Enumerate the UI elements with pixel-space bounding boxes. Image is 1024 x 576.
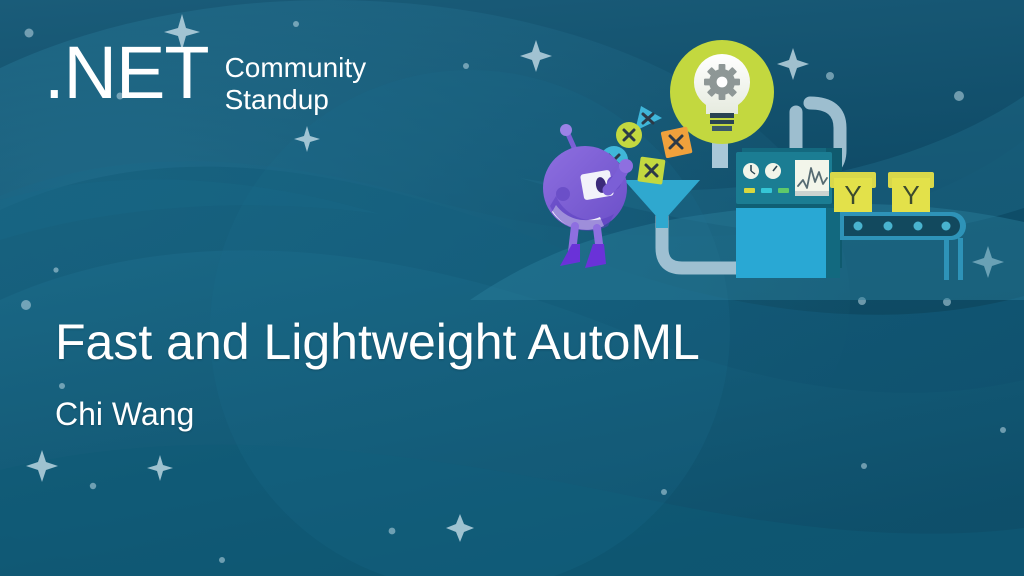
token-circle: [616, 122, 642, 148]
output-box: Y: [830, 172, 876, 212]
slide-title: Fast and Lightweight AutoML: [55, 313, 700, 371]
gear-icon: [704, 64, 740, 100]
subtitle-line-2: Standup: [225, 84, 367, 116]
indicator-light: [778, 188, 789, 193]
token-square: [661, 126, 693, 158]
machine-body: [736, 206, 826, 278]
output-box: Y: [888, 172, 934, 212]
slide-author: Chi Wang: [55, 395, 194, 433]
output-box-label: Y: [844, 180, 861, 210]
presentation-slide: Y Y: [0, 0, 1024, 576]
robot-cheek: [556, 187, 570, 201]
output-box-label: Y: [902, 180, 919, 210]
gauge-icon: [743, 163, 759, 179]
dotnet-community-standup-logo: .NET Community Standup: [44, 36, 366, 116]
community-standup-subtitle: Community Standup: [225, 52, 367, 116]
subtitle-line-1: Community: [225, 52, 367, 84]
dotnet-logo-text: .NET: [44, 36, 209, 110]
indicator-light: [761, 188, 772, 193]
gauge-icon: [765, 163, 781, 179]
conveyor-leg: [958, 238, 963, 280]
machine-screen: [795, 160, 829, 196]
indicator-light: [744, 188, 755, 193]
token-square: [637, 156, 665, 184]
machine: [736, 148, 842, 278]
conveyor-leg: [944, 238, 949, 280]
